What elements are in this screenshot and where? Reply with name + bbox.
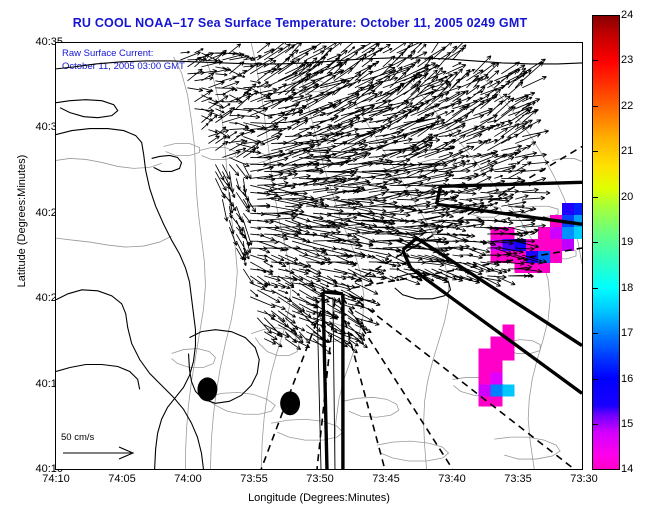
x-tick-74-00: 74:00: [158, 473, 218, 485]
colorbar-tickmark: [592, 424, 598, 425]
colorbar-tick-20: 20: [621, 191, 633, 203]
x-tick-73-55: 73:55: [224, 473, 284, 485]
colorbar-tickmark: [592, 106, 598, 107]
colorbar-tick-15: 15: [621, 418, 633, 430]
x-tick-74-05: 74:05: [92, 473, 152, 485]
colorbar-tick-17: 17: [621, 327, 633, 339]
x-tick-73-35: 73:35: [488, 473, 548, 485]
colorbar-tick-14: 14: [621, 463, 633, 475]
x-tick-73-30: 73:30: [554, 473, 614, 485]
map-plot-area[interactable]: Raw Surface Current: October 11, 2005 03…: [55, 42, 583, 470]
colorbar-tickmark: [592, 197, 598, 198]
x-axis-label: Longitude (Degrees:Minutes): [55, 492, 583, 504]
colorbar-tick-18: 18: [621, 282, 633, 294]
colorbar-tickmark: [592, 288, 598, 289]
y-axis-label: Latitude (Degrees:Minutes): [16, 111, 28, 331]
scale-legend-label: 50 cm/s: [61, 432, 149, 443]
colorbar-tickmark: [592, 333, 598, 334]
sst-map-figure: RU COOL NOAA–17 Sea Surface Temperature:…: [0, 0, 651, 519]
colorbar-tickmark: [592, 379, 598, 380]
colorbar-tick-23: 23: [621, 54, 633, 66]
colorbar-tickmark: [592, 60, 598, 61]
x-tick-74-10: 74:10: [26, 473, 86, 485]
colorbar-tickmark: [592, 469, 598, 470]
colorbar-tickmark: [592, 151, 598, 152]
traffic-separation-dashed: [261, 147, 582, 469]
colorbar-tickmark: [592, 15, 598, 16]
x-tick-73-40: 73:40: [422, 473, 482, 485]
figure-title: RU COOL NOAA–17 Sea Surface Temperature:…: [0, 16, 600, 30]
colorbar-tickmark: [592, 242, 598, 243]
colorbar-tick-24: 24: [621, 9, 633, 21]
station-markers: [197, 377, 300, 415]
colorbar-tick-21: 21: [621, 145, 633, 157]
scale-legend: 50 cm/s: [61, 432, 149, 461]
colorbar-tick-22: 22: [621, 100, 633, 112]
colorbar-tick-19: 19: [621, 236, 633, 248]
arrow-right-icon: [61, 445, 137, 461]
x-tick-73-45: 73:45: [356, 473, 416, 485]
colorbar-tick-16: 16: [621, 373, 633, 385]
x-tick-73-50: 73:50: [290, 473, 350, 485]
surface-current-vector-field: [181, 43, 551, 354]
